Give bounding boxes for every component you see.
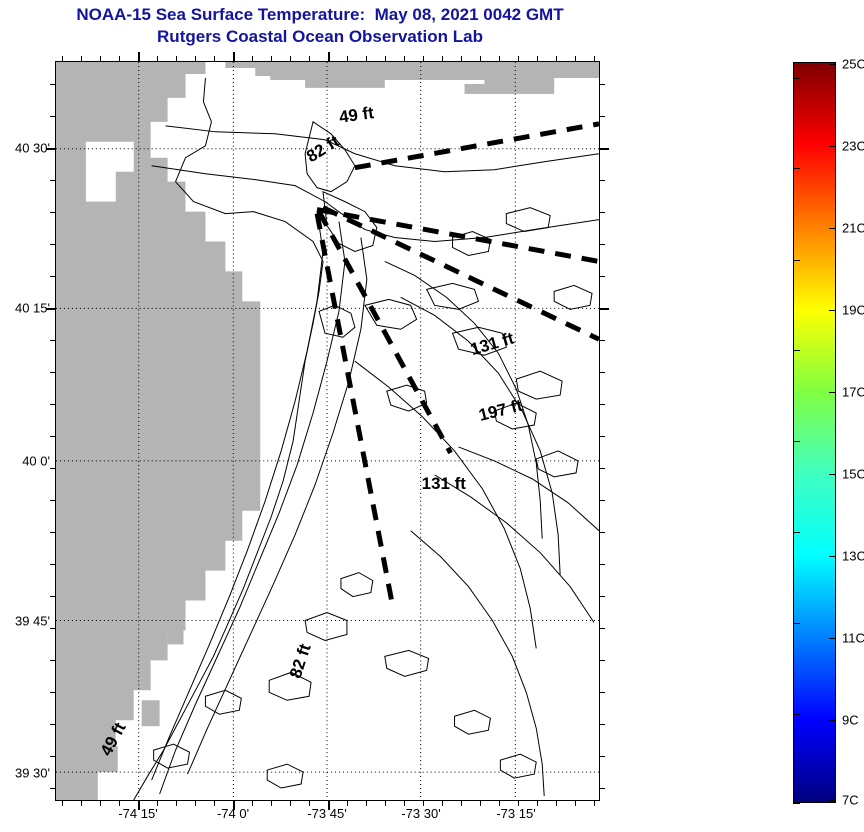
tick-mark	[252, 56, 253, 61]
page-title: NOAA-15 Sea Surface Temperature: May 08,…	[0, 4, 640, 48]
land-pixel	[168, 620, 184, 644]
tick-mark	[594, 56, 595, 61]
tick-mark	[138, 52, 140, 61]
tick-mark	[176, 801, 177, 806]
colorbar-tick	[793, 803, 800, 804]
tick-mark	[309, 56, 310, 61]
colorbar-tick	[793, 260, 800, 261]
colorbar-tick	[793, 441, 800, 442]
colorbar-celsius-label: 15C	[842, 467, 864, 482]
colorbar-celsius-label: 9C	[842, 713, 859, 728]
tick-mark	[600, 660, 605, 661]
tick-mark	[537, 801, 538, 806]
tick-mark	[81, 801, 82, 806]
tick-mark	[480, 801, 481, 806]
land-pixel	[205, 251, 221, 273]
tick-mark	[600, 500, 605, 501]
tick-mark	[600, 340, 605, 341]
tick-mark	[600, 372, 605, 373]
tick-mark	[100, 801, 101, 806]
tick-mark	[518, 56, 519, 61]
tick-mark	[50, 660, 55, 661]
colorbar-tick	[793, 714, 800, 715]
land-pixel	[62, 760, 90, 800]
colorbar-celsius-label: 7C	[842, 793, 859, 808]
tick-mark	[600, 596, 605, 597]
tick-mark	[600, 468, 605, 469]
tick-mark	[50, 724, 55, 725]
tick-mark	[537, 56, 538, 61]
x-axis-tick-label: -73 30'	[401, 806, 440, 821]
tick-mark	[594, 801, 595, 806]
tick-mark	[347, 801, 348, 806]
y-axis-tick-label: 40 30'	[15, 141, 50, 156]
colorbar-tick	[793, 168, 800, 169]
land-pixel	[142, 700, 160, 726]
tick-mark	[50, 244, 55, 245]
tick-mark	[214, 56, 215, 61]
tick-mark	[271, 801, 272, 806]
tick-mark	[50, 404, 55, 405]
tick-mark	[442, 56, 443, 61]
colorbar-tick	[829, 146, 836, 147]
depth-label: 131 ft	[422, 474, 467, 493]
colorbar-tick	[793, 623, 800, 624]
land-pixel	[184, 491, 202, 519]
tick-mark	[50, 596, 55, 597]
tick-mark	[600, 724, 605, 725]
tick-mark	[50, 276, 55, 277]
tick-mark	[50, 692, 55, 693]
tick-mark	[119, 56, 120, 61]
tick-mark	[62, 801, 63, 806]
tick-mark	[600, 532, 605, 533]
y-axis-tick-label: 40 15'	[15, 301, 50, 316]
tick-mark	[461, 801, 462, 806]
colorbar-celsius-label: 21C	[842, 221, 864, 236]
tick-mark	[600, 212, 605, 213]
tick-mark	[271, 56, 272, 61]
tick-mark	[50, 212, 55, 213]
tick-mark	[195, 56, 196, 61]
land-pixel	[201, 361, 215, 387]
tick-mark	[600, 116, 605, 117]
tick-mark	[62, 56, 63, 61]
tick-mark	[252, 801, 253, 806]
tick-mark	[442, 801, 443, 806]
tick-mark	[100, 56, 101, 61]
tick-mark	[50, 180, 55, 181]
x-axis-tick-label: -73 15'	[496, 806, 535, 821]
tick-mark	[600, 756, 605, 757]
tick-mark	[600, 244, 605, 245]
colorbar-celsius-label: 19C	[842, 303, 864, 318]
tick-mark	[50, 788, 55, 789]
tick-mark	[214, 801, 215, 806]
colorbar-tick	[793, 350, 800, 351]
tick-mark	[347, 56, 348, 61]
title-line-2: Rutgers Coastal Ocean Observation Lab	[0, 26, 640, 48]
tick-mark	[50, 564, 55, 565]
colorbar-celsius-label: 25C	[842, 57, 864, 72]
tick-mark	[290, 56, 291, 61]
tick-mark	[328, 52, 330, 61]
tick-mark	[499, 56, 500, 61]
colorbar-tick	[829, 800, 836, 801]
colorbar-tick	[829, 228, 836, 229]
tick-mark	[600, 692, 605, 693]
sst-map-canvas: 49 ft 82 ft 131 ft 197 ft 131 ft 82 ft 4…	[56, 62, 599, 800]
tick-mark	[600, 84, 605, 85]
tick-mark	[385, 801, 386, 806]
tick-mark	[50, 340, 55, 341]
tick-mark	[600, 628, 605, 629]
tick-mark	[600, 788, 605, 789]
land-long-island-pixel	[464, 84, 554, 94]
tick-mark	[600, 148, 609, 150]
colorbar-celsius-label: 13C	[842, 549, 864, 564]
colorbar-tick	[829, 64, 836, 65]
tick-mark	[50, 116, 55, 117]
land-long-island-pixel	[270, 70, 330, 80]
tick-mark	[556, 801, 557, 806]
tick-mark	[556, 56, 557, 61]
colorbar-tick	[829, 556, 836, 557]
tick-mark	[176, 56, 177, 61]
tick-mark	[575, 56, 576, 61]
tick-mark	[600, 436, 605, 437]
colorbar-tick	[829, 310, 836, 311]
tick-mark	[404, 56, 405, 61]
tick-mark	[600, 308, 609, 310]
tick-mark	[50, 436, 55, 437]
title-line-1: NOAA-15 Sea Surface Temperature: May 08,…	[0, 4, 640, 26]
x-axis-tick-label: -74 15'	[118, 806, 157, 821]
y-axis-tick-label: 39 45'	[15, 614, 50, 629]
colorbar-tick	[793, 532, 800, 533]
colorbar-tick	[829, 474, 836, 475]
tick-mark	[81, 56, 82, 61]
sst-map-panel[interactable]: 49 ft 82 ft 131 ft 197 ft 131 ft 82 ft 4…	[55, 61, 600, 801]
tick-mark	[600, 276, 605, 277]
tick-mark	[366, 801, 367, 806]
tick-mark	[290, 801, 291, 806]
tick-mark	[575, 801, 576, 806]
tick-mark	[423, 56, 424, 61]
tick-mark	[366, 56, 367, 61]
tick-mark	[50, 500, 55, 501]
tick-mark	[50, 756, 55, 757]
x-axis-tick-label: -73 45'	[307, 806, 346, 821]
colorbar-tick	[829, 392, 836, 393]
tick-mark	[50, 628, 55, 629]
colorbar-celsius-label: 23C	[842, 139, 864, 154]
y-axis-tick-label: 39 30'	[15, 766, 50, 781]
tick-mark	[233, 52, 235, 61]
temperature-colorbar[interactable]	[793, 62, 836, 803]
tick-mark	[480, 56, 481, 61]
tick-mark	[600, 404, 605, 405]
tick-mark	[195, 801, 196, 806]
y-axis-tick-label: 40 0'	[22, 454, 50, 469]
tick-mark	[50, 532, 55, 533]
tick-mark	[50, 468, 55, 469]
x-axis-tick-label: -74 0'	[217, 806, 249, 821]
tick-mark	[461, 56, 462, 61]
colorbar-gradient	[794, 63, 835, 802]
colorbar-tick	[829, 720, 836, 721]
tick-mark	[157, 56, 158, 61]
tick-mark	[600, 180, 605, 181]
colorbar-tick	[829, 638, 836, 639]
tick-mark	[50, 84, 55, 85]
tick-mark	[600, 564, 605, 565]
tick-mark	[385, 56, 386, 61]
colorbar-celsius-label: 17C	[842, 385, 864, 400]
tick-mark	[50, 372, 55, 373]
colorbar-tick	[793, 78, 800, 79]
colorbar-celsius-label: 11C	[842, 631, 864, 646]
